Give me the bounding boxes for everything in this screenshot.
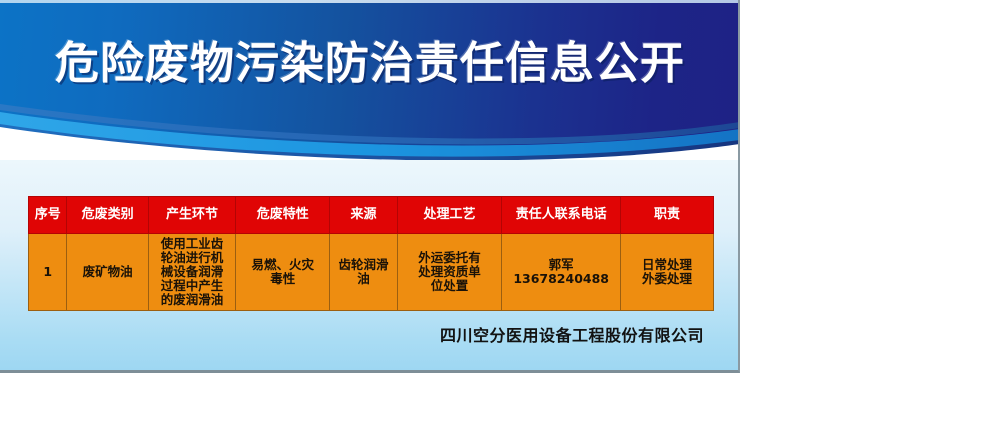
contact-person-name: 郭军 (504, 258, 618, 272)
information-poster: 危险废物污染防治责任信息公开 序号 危废类别 产生环节 危废特性 (0, 0, 740, 373)
column-header-duty: 职责 (620, 197, 713, 234)
cell-generation-stage-line-2: 轮油进行机 (151, 251, 234, 265)
cell-generation-stage-line-3: 械设备润滑 (151, 265, 234, 279)
cell-seq: 1 (29, 234, 67, 311)
contact-phone-number: 13678240488 (504, 272, 618, 286)
cell-characteristics-line-2: 毒性 (238, 272, 327, 286)
cell-duty-line-2: 外委处理 (623, 272, 711, 286)
cell-category: 废矿物油 (67, 234, 148, 311)
cell-treatment-line-3: 位处置 (400, 279, 500, 293)
company-name: 四川空分医用设备工程股份有限公司 (300, 325, 714, 347)
column-header-generation-stage: 产生环节 (148, 197, 236, 234)
cell-treatment-line-1: 外运委托有 (400, 251, 500, 265)
cell-treatment-line-2: 处理资质单 (400, 265, 500, 279)
screenshot-canvas: 危险废物污染防治责任信息公开 序号 危废类别 产生环节 危废特性 (0, 0, 1000, 442)
cell-contact: 郭军 13678240488 (502, 234, 621, 311)
cell-characteristics-line-1: 易燃、火灾 (238, 258, 327, 272)
page-title: 危险废物污染防治责任信息公开 (0, 38, 740, 90)
column-header-treatment: 处理工艺 (397, 197, 502, 234)
column-header-seq: 序号 (29, 197, 67, 234)
hazardous-waste-table: 序号 危废类别 产生环节 危废特性 来源 处理工艺 责任人联系电话 职责 1 废… (28, 196, 714, 311)
cell-generation-stage-line-4: 过程中产生 (151, 279, 234, 293)
column-header-characteristics: 危废特性 (236, 197, 330, 234)
column-header-source: 来源 (330, 197, 397, 234)
cell-duty-line-1: 日常处理 (623, 258, 711, 272)
cell-generation-stage-line-1: 使用工业齿 (151, 237, 234, 251)
cell-generation-stage: 使用工业齿 轮油进行机 械设备润滑 过程中产生 的废润滑油 (148, 234, 236, 311)
cell-characteristics: 易燃、火灾 毒性 (236, 234, 330, 311)
column-header-category: 危废类别 (67, 197, 148, 234)
cell-source: 齿轮润滑油 (330, 234, 397, 311)
table-row: 1 废矿物油 使用工业齿 轮油进行机 械设备润滑 过程中产生 的废润滑油 易燃、… (29, 234, 714, 311)
column-header-contact: 责任人联系电话 (502, 197, 621, 234)
cell-treatment: 外运委托有 处理资质单 位处置 (397, 234, 502, 311)
cell-duty: 日常处理 外委处理 (620, 234, 713, 311)
table-header-row: 序号 危废类别 产生环节 危废特性 来源 处理工艺 责任人联系电话 职责 (29, 197, 714, 234)
poster-banner: 危险废物污染防治责任信息公开 (0, 0, 740, 160)
cell-generation-stage-line-5: 的废润滑油 (151, 293, 234, 307)
